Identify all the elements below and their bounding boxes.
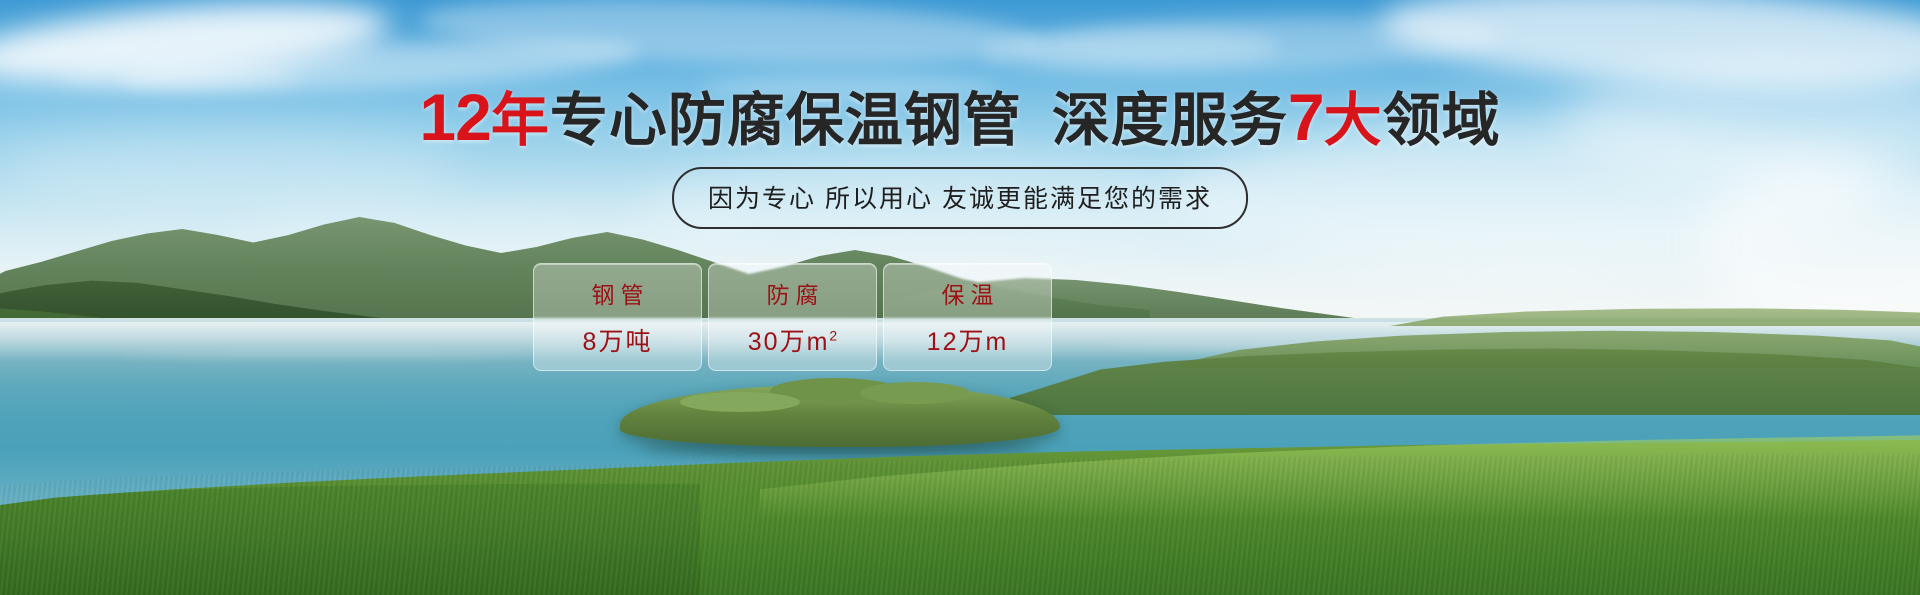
hero-banner: 12年专心防腐保温钢管深度服务7大领域 因为专心 所以用心 友诚更能满足您的需求… bbox=[0, 0, 1920, 595]
stat-card-group: 钢管 8万吨 防腐 30万m2 保温 12万m bbox=[533, 263, 1052, 371]
stat-card-value: 12万m bbox=[927, 322, 1009, 358]
stat-value-text: 12万m bbox=[927, 328, 1009, 356]
headline-fields-tail: 领域 bbox=[1383, 88, 1501, 153]
banner-content: 12年专心防腐保温钢管深度服务7大领域 因为专心 所以用心 友诚更能满足您的需求… bbox=[0, 0, 1920, 595]
stat-value-superscript: 2 bbox=[829, 328, 837, 344]
banner-subtitle-pill: 因为专心 所以用心 友诚更能满足您的需求 bbox=[672, 167, 1248, 229]
headline-years-number: 12 bbox=[419, 80, 490, 154]
stat-card-insulation[interactable]: 保温 12万m bbox=[883, 263, 1052, 371]
headline-years-unit: 年 bbox=[491, 88, 550, 153]
stat-value-text: 30万m bbox=[748, 328, 830, 356]
stat-card-value: 30万m2 bbox=[748, 322, 837, 358]
headline-fields-unit: 大 bbox=[1324, 88, 1383, 153]
stat-value-text: 8万吨 bbox=[583, 328, 653, 356]
stat-card-label: 防腐 bbox=[761, 276, 825, 310]
headline-fields-number: 7 bbox=[1288, 80, 1324, 154]
stat-card-anticorrosion[interactable]: 防腐 30万m2 bbox=[708, 263, 877, 371]
stat-card-label: 保温 bbox=[936, 276, 1000, 310]
banner-headline: 12年专心防腐保温钢管深度服务7大领域 bbox=[0, 84, 1920, 150]
stat-card-label: 钢管 bbox=[586, 276, 650, 310]
stat-card-steel-pipe[interactable]: 钢管 8万吨 bbox=[533, 263, 702, 371]
headline-phrase-one: 专心防腐保温钢管 bbox=[550, 88, 1022, 153]
stat-card-value: 8万吨 bbox=[583, 322, 653, 358]
headline-phrase-two: 深度服务 bbox=[1052, 88, 1288, 153]
